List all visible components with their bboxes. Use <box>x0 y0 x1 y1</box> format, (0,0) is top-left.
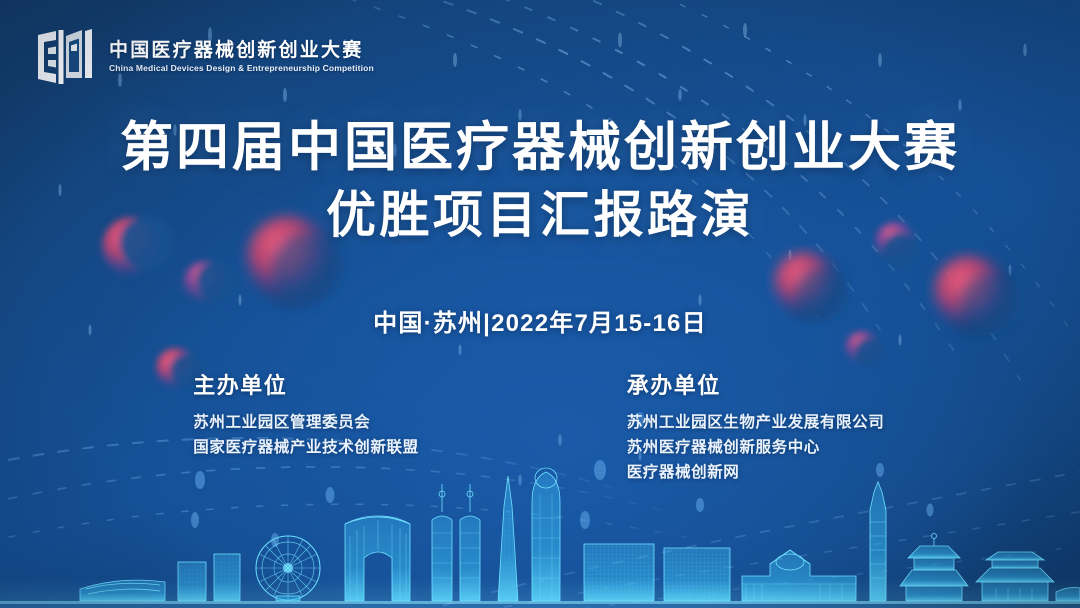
organizer-undertaker-heading: 承办单位 <box>627 368 887 400</box>
competition-logo: 中国医疗器械创新创业大赛 China Medical Devices Desig… <box>34 28 374 86</box>
open-door-book-logo-icon <box>34 28 96 86</box>
organizer-undertaker-line: 苏州工业园区生物产业发展有限公司 <box>627 410 887 435</box>
organizer-host-line: 苏州工业园区管理委员会 <box>193 410 418 435</box>
organizer-undertaker-line: 苏州医疗器械创新服务中心 <box>627 435 887 460</box>
poster-headline: 第四届中国医疗器械创新创业大赛 优胜项目汇报路演 <box>0 118 1080 243</box>
event-location-date: 中国·苏州|2022年7月15-16日 <box>0 303 1080 338</box>
organizer-host-line: 国家医疗器械产业技术创新联盟 <box>193 435 418 460</box>
organizer-host-heading: 主办单位 <box>193 368 418 400</box>
event-poster: 中国医疗器械创新创业大赛 China Medical Devices Desig… <box>0 0 1080 608</box>
logo-english-name: China Medical Devices Design & Entrepren… <box>109 64 374 73</box>
logo-chinese-name: 中国医疗器械创新创业大赛 <box>109 41 374 62</box>
headline-line-1: 第四届中国医疗器械创新创业大赛 <box>0 118 1080 177</box>
headline-line-2: 优胜项目汇报路演 <box>0 187 1080 243</box>
suzhou-city-skyline-icon <box>0 458 1080 608</box>
